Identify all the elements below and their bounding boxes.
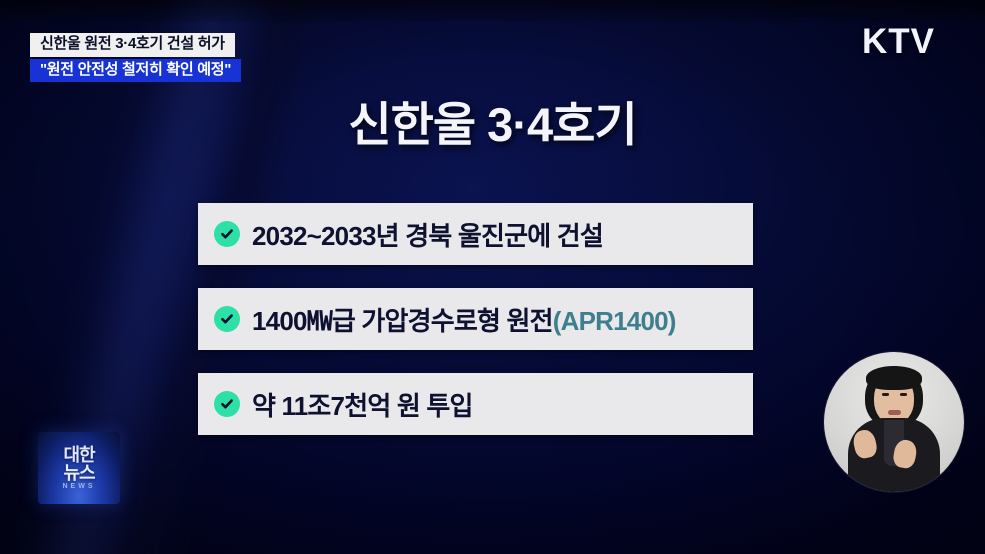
watermark-line-2: 뉴스	[63, 464, 94, 483]
check-circle-icon	[214, 391, 240, 417]
interpreter-eye-right	[900, 393, 907, 396]
bullet-text: 약 11조7천억 원 투입	[252, 386, 473, 423]
interpreter-mouth	[888, 410, 901, 415]
check-circle-icon	[214, 306, 240, 332]
bullet-text-suffix: (APR1400)	[553, 306, 676, 336]
background-top-shadow-strip	[0, 0, 985, 22]
interpreter-fringe	[866, 366, 922, 390]
banner-headline: 신한울 원전 3·4호기 건설 허가	[30, 33, 235, 57]
bullet-list: 2032~2033년 경북 울진군에 건설 1400㎿급 가압경수로형 원전(A…	[198, 203, 753, 435]
banner-subline: "원전 안전성 철저히 확인 예정"	[30, 59, 241, 83]
bullet-row: 2032~2033년 경북 울진군에 건설	[198, 203, 753, 265]
interpreter-eye-left	[882, 393, 889, 396]
bullet-text: 1400㎿급 가압경수로형 원전(APR1400)	[252, 301, 676, 338]
slide-title: 신한울 3·4호기	[0, 86, 985, 155]
bullet-row: 1400㎿급 가압경수로형 원전(APR1400)	[198, 288, 753, 350]
bullet-text: 2032~2033년 경북 울진군에 건설	[252, 216, 603, 253]
bullet-row: 약 11조7천억 원 투입	[198, 373, 753, 435]
watermark-line-1: 대한	[63, 446, 94, 464]
broadcast-screen: 신한울 원전 3·4호기 건설 허가 "원전 안전성 철저히 확인 예정" KT…	[0, 0, 985, 554]
sign-language-interpreter	[824, 352, 964, 492]
news-watermark-logo: 대한 뉴스 NEWS	[38, 432, 120, 504]
bullet-text-main: 1400㎿급 가압경수로형 원전	[252, 306, 553, 336]
ktv-channel-logo: KTV	[862, 22, 935, 62]
watermark-line-3: NEWS	[63, 483, 96, 490]
news-banner: 신한울 원전 3·4호기 건설 허가 "원전 안전성 철저히 확인 예정"	[30, 33, 241, 82]
check-circle-icon	[214, 221, 240, 247]
